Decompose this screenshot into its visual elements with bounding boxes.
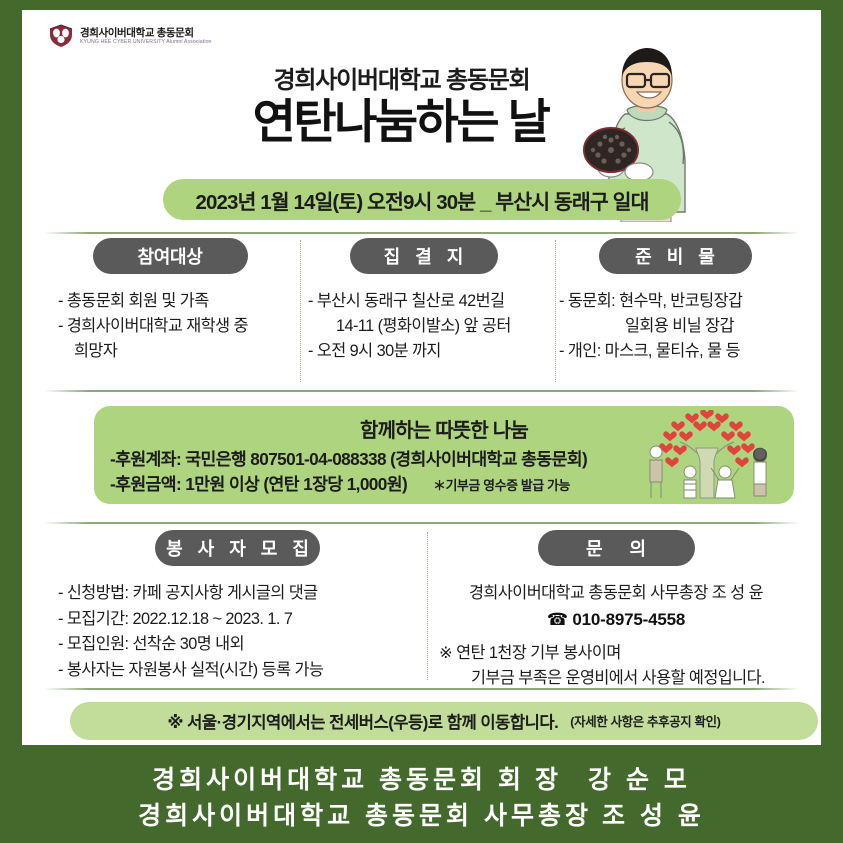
poster-footer: 경희사이버대학교 총동문회 회장강 순 모 경희사이버대학교 총동문회 사무총장…: [0, 752, 843, 843]
divider-middle: [44, 390, 799, 392]
donation-receipt-note: ＊기부금 영수증 발급 가능: [433, 473, 570, 498]
volunteer-column: 봉 사 자 모 집 - 신청방법: 카페 공지사항 게시글의 댓글 - 모집기간…: [44, 530, 427, 682]
donation-box: 함께하는 따뜻한 나눔 -후원계좌: 국민은행 807501-04-088338…: [94, 406, 794, 504]
pill-volunteer: 봉 사 자 모 집: [155, 530, 320, 566]
volunteer-line: - 모집기간: 2022.12.18 ~ 2023. 1. 7: [48, 607, 427, 633]
footer-secretary-name: 조 성 윤: [602, 802, 705, 830]
info-line: - 개인: 마스크, 물티슈, 물 등: [555, 339, 795, 364]
volunteer-line: - 모집인원: 선착순 30명 내외: [48, 632, 427, 658]
inquiry-lines: 경희사이버대학교 총동문회 사무총장 조 성 윤 ☎ 010-8975-4558…: [433, 581, 799, 692]
logo-korean-name: 경희사이버대학교 총동문회: [80, 27, 212, 39]
info-column-participants: 참여대상 - 총동문회 회원 및 가족 - 경희사이버대학교 재학생 중 희망자: [44, 238, 296, 386]
footer-secretary-prefix: 경희사이버대학교 총동문회 사무총장: [138, 802, 592, 830]
footer-president-prefix: 경희사이버대학교 총동문회 회: [152, 766, 525, 794]
info-column-meeting-point: 집 결 지 - 부산시 동래구 칠산로 42번길 14-11 (평화이발소) 앞…: [296, 238, 551, 386]
info-line: 14-11 (평화이발소) 앞 공터: [300, 314, 547, 339]
event-date-text: 2023년 1월 14일(토) 오전9시 30분 _ 부산시 동래구 일대: [195, 185, 648, 215]
pill-preparations: 준 비 물: [599, 238, 752, 274]
info-line: - 부산시 동래구 칠산로 42번길: [300, 289, 547, 314]
divider-vertical-3: [427, 532, 428, 680]
inquiry-column: 문 의 경희사이버대학교 총동문회 사무총장 조 성 윤 ☎ 010-8975-…: [427, 530, 799, 682]
logo-english-name: KYUNG HEE CYBER UNIVERSITY Alumni Associ…: [80, 39, 212, 46]
volunteer-line: - 신청방법: 카페 공지사항 게시글의 댓글: [48, 581, 427, 607]
footer-line-secretary: 경희사이버대학교 총동문회 사무총장조 성 윤: [138, 800, 705, 832]
organization-logo: 경희사이버대학교 총동문회 KYUNG HEE CYBER UNIVERSITY…: [48, 24, 212, 48]
footer-president-name: 강 순 모: [588, 766, 691, 794]
info-line: 희망자: [48, 339, 292, 364]
divider-bottom: [44, 688, 799, 690]
telephone-icon: ☎: [547, 610, 568, 629]
info-line: 일회용 비닐 장갑: [555, 314, 795, 339]
footer-line-president: 경희사이버대학교 총동문회 회장강 순 모: [152, 764, 691, 796]
info-columns: 참여대상 - 총동문회 회원 및 가족 - 경희사이버대학교 재학생 중 희망자…: [44, 238, 799, 386]
poster-root: 경희사이버대학교 총동문회 KYUNG HEE CYBER UNIVERSITY…: [0, 0, 843, 843]
preparations-lines: - 동문회: 현수막, 반코팅장갑 일회용 비닐 장갑 - 개인: 마스크, 물…: [555, 289, 795, 364]
kyung-hee-crest-icon: [48, 24, 74, 48]
transport-notice-banner: ※ 서울·경기지역에서는 전세버스(우등)로 함께 이동합니다. (자세한 사항…: [70, 702, 818, 740]
volunteer-line: - 봉사자는 자원봉사 실적(시간) 등록 가능: [48, 658, 427, 684]
poster-card: 경희사이버대학교 총동문회 KYUNG HEE CYBER UNIVERSITY…: [22, 10, 821, 745]
participants-lines: - 총동문회 회원 및 가족 - 경희사이버대학교 재학생 중 희망자: [48, 289, 292, 364]
notice-main-text: ※ 서울·경기지역에서는 전세버스(우등)로 함께 이동합니다.: [167, 709, 558, 733]
donation-amount-line: -후원금액: 1만원 이상 (연탄 1장당 1,000원): [110, 472, 407, 497]
notice-sub-text: (자세한 사항은 추후공지 확인): [570, 712, 720, 730]
pill-meeting-point: 집 결 지: [350, 238, 498, 274]
footer-president-title: 장: [535, 766, 562, 794]
inquiry-phone-number: 010-8975-4558: [572, 610, 685, 629]
info-line: - 동문회: 현수막, 반코팅장갑: [555, 289, 795, 314]
info-column-preparations: 준 비 물 - 동문회: 현수막, 반코팅장갑 일회용 비닐 장갑 - 개인: …: [551, 238, 799, 386]
event-date-banner: 2023년 1월 14일(토) 오전9시 30분 _ 부산시 동래구 일대: [163, 179, 681, 220]
info-line: - 경희사이버대학교 재학생 중: [48, 314, 292, 339]
inquiry-phone-row: ☎ 010-8975-4558: [433, 607, 799, 633]
lower-columns: 봉 사 자 모 집 - 신청방법: 카페 공지사항 게시글의 댓글 - 모집기간…: [44, 530, 799, 682]
volunteer-lines: - 신청방법: 카페 공지사항 게시글의 댓글 - 모집기간: 2022.12.…: [48, 581, 427, 683]
logo-text-block: 경희사이버대학교 총동문회 KYUNG HEE CYBER UNIVERSITY…: [80, 27, 212, 46]
inquiry-contact-name: 경희사이버대학교 총동문회 사무총장 조 성 윤: [433, 581, 799, 607]
info-line: - 총동문회 회원 및 가족: [48, 289, 292, 314]
meeting-point-lines: - 부산시 동래구 칠산로 42번길 14-11 (평화이발소) 앞 공터 - …: [300, 289, 547, 364]
inquiry-note-line: ※ 연탄 1천장 기부 봉사이며: [433, 641, 799, 667]
pill-inquiry: 문 의: [538, 530, 695, 566]
heart-tree-family-illustration: [632, 410, 782, 502]
divider-vertical-1: [300, 240, 301, 382]
divider-vertical-2: [555, 240, 556, 382]
info-line: - 오전 9시 30분 까지: [300, 339, 547, 364]
pill-participants: 참여대상: [93, 238, 248, 274]
divider-lower: [44, 522, 799, 524]
divider-top: [44, 232, 799, 234]
